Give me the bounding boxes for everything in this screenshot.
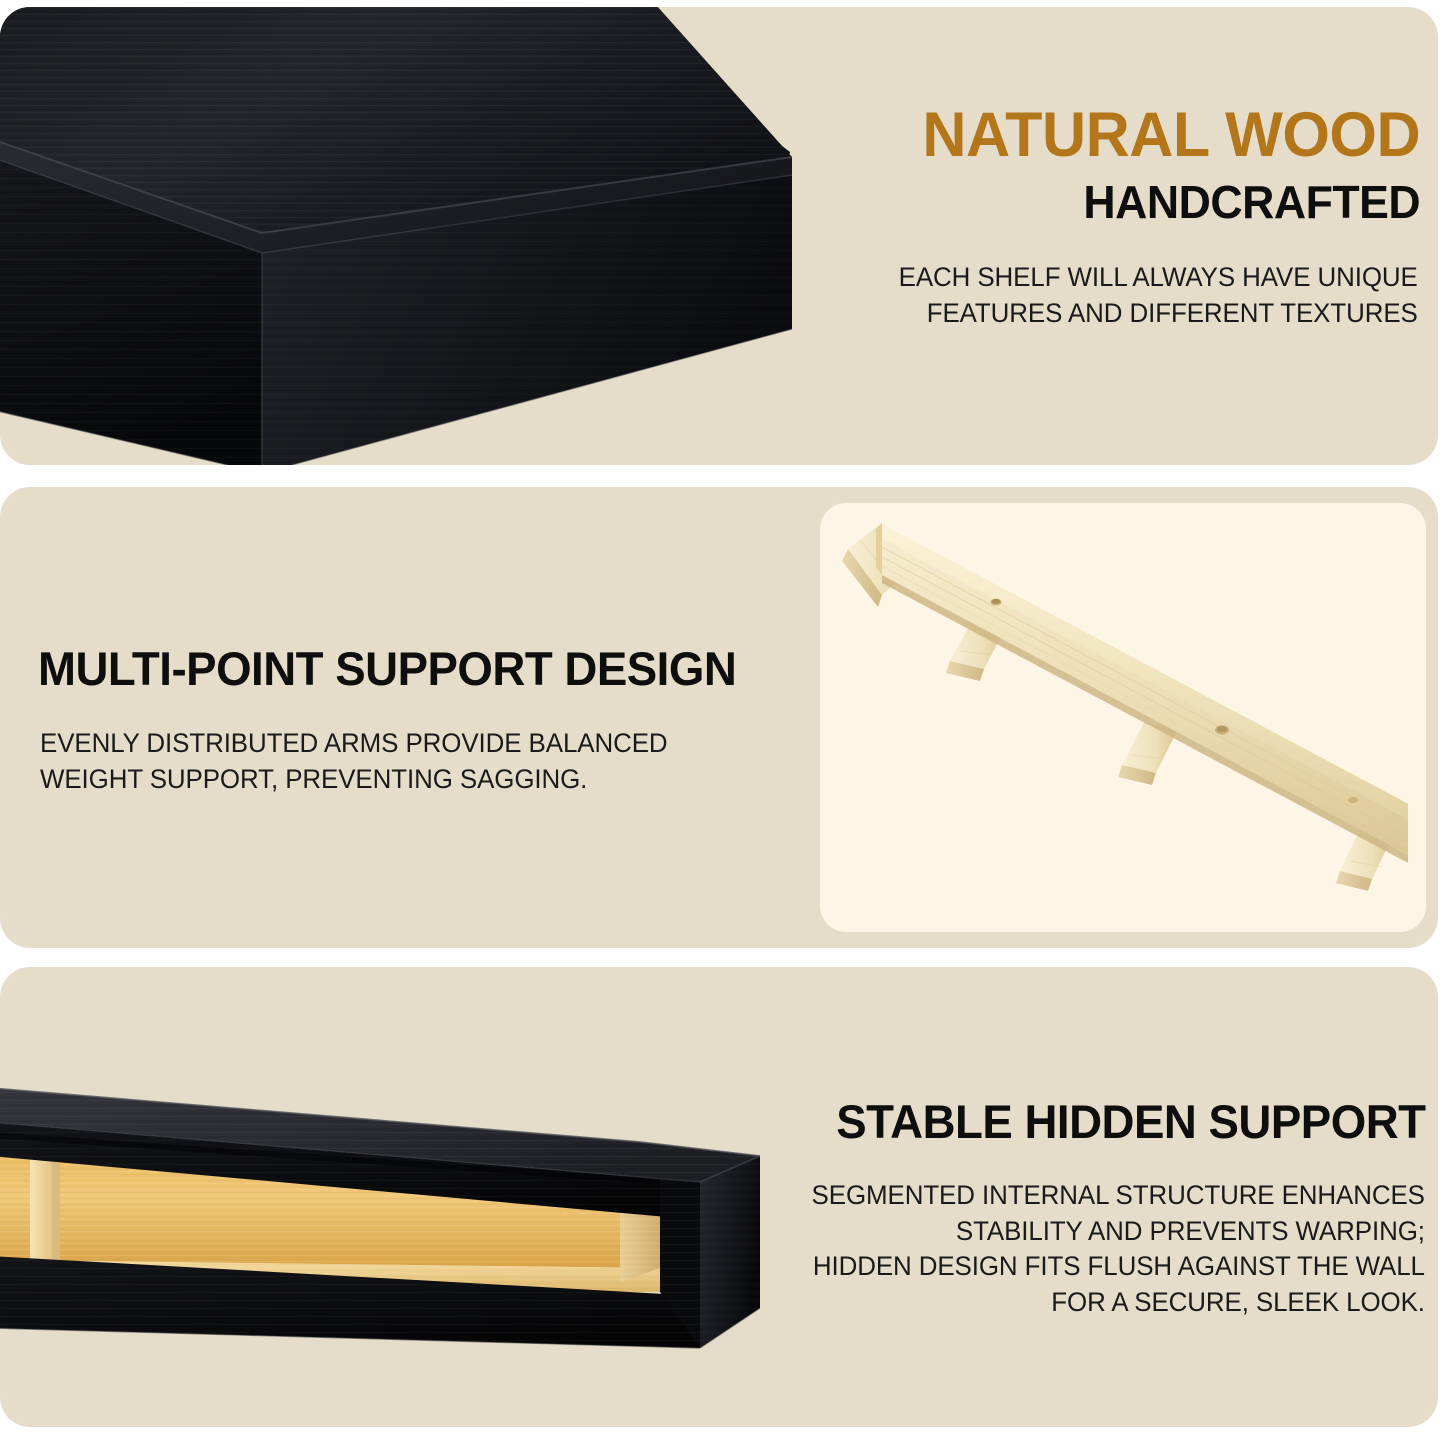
panel-1-title: NATURAL WOOD (922, 104, 1420, 167)
panel-2-body: EVENLY DISTRIBUTED ARMS PROVIDE BALANCED… (40, 726, 668, 797)
pine-bracket-illustration (820, 503, 1426, 932)
panel-3-body: SEGMENTED INTERNAL STRUCTURE ENHANCES ST… (812, 1178, 1425, 1321)
black-shelf-block-photo (0, 7, 800, 465)
panel-natural-wood: NATURAL WOOD HANDCRAFTED EACH SHELF WILL… (0, 7, 1438, 465)
hollow-shelf-photo (0, 1060, 810, 1350)
panel-1-subtitle: HANDCRAFTED (1083, 179, 1420, 225)
bracket-photo-card (820, 503, 1426, 932)
panel-2-title: MULTI-POINT SUPPORT DESIGN (38, 645, 736, 692)
panel-1-body: EACH SHELF WILL ALWAYS HAVE UNIQUE FEATU… (899, 260, 1418, 331)
bracket-main-rail (882, 523, 1408, 863)
internal-divider (30, 1144, 52, 1266)
panel-3-title: STABLE HIDDEN SUPPORT (836, 1098, 1425, 1145)
